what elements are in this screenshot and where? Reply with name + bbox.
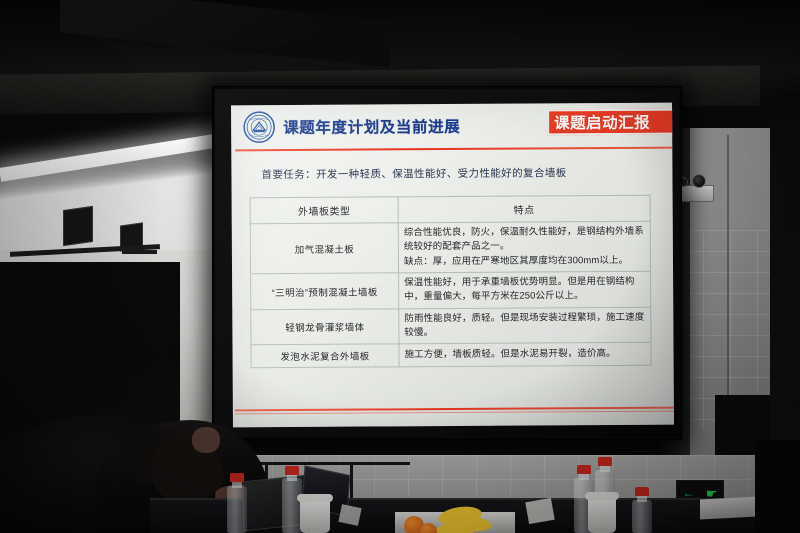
paper-sheet [338, 504, 361, 526]
paper-sheet [525, 498, 554, 524]
feature-line: 保温性能好，用于承重墙板优势明显。但是用在钢结构中，重量偏大，每平方米在250公… [404, 275, 645, 304]
water-bottle [632, 500, 652, 533]
orange [420, 523, 437, 533]
cell-panel-type: 加气混凝土板 [250, 223, 398, 274]
ceiling-beam [60, 0, 390, 67]
table-row: 发泡水泥复合外墙板 施工方便，墙板质轻。但是水泥易开裂，造价高。 [251, 343, 651, 368]
water-bottle [282, 478, 302, 533]
cell-panel-type: 轻钢龙骨灌浆墙体 [251, 309, 399, 345]
cell-panel-type: 发泡水泥复合外墙板 [251, 344, 399, 368]
cup-lid [585, 492, 619, 500]
cell-panel-features: 综合性能优良，防火，保温耐久性能好，是钢结构外墙系统较好的配套产品之一。 缺点：… [398, 221, 650, 273]
header-divider [235, 147, 674, 152]
bottle-cap [230, 473, 244, 482]
bottle-neck [637, 495, 647, 502]
university-emblem-icon [243, 111, 275, 143]
slide-title: 课题年度计划及当前进展 [283, 115, 460, 138]
bottle-neck [287, 474, 297, 481]
wall-trim-bar [122, 250, 157, 254]
slide-header: 课题年度计划及当前进展 课题启动汇报 [231, 103, 672, 148]
column-header-features: 特点 [398, 195, 650, 223]
conference-room-photo: 课题年度计划及当前进展 课题启动汇报 首要任务：开发一种轻质、保温性能好、受力性… [0, 0, 800, 533]
cup-lid [297, 494, 333, 502]
bottle-cap [598, 457, 612, 466]
bottle-cap [285, 466, 299, 475]
status-badge: 课题启动汇报 [547, 109, 674, 136]
foreground-dark-corner [755, 440, 800, 533]
table-row: “三明治”预制混凝土墙板 保温性能好，用于承重墙板优势明显。但是用在钢结构中，重… [251, 272, 651, 310]
wall-panel-comparison-table: 外墙板类型 特点 加气混凝土板 综合性能优良，防火，保温耐久性能好，是钢结构外墙… [250, 195, 652, 369]
table-row: 轻钢龙骨灌浆墙体 防雨性能良好，质轻。但是现场安装过程繁琐，施工速度较慢。 [251, 307, 651, 345]
table-row: 加气混凝土板 综合性能优良，防火，保温耐久性能好，是钢结构外墙系统较好的配套产品… [250, 221, 650, 274]
cup [300, 500, 330, 533]
cup [588, 498, 616, 533]
person-hand [192, 427, 220, 453]
bottle-cap [577, 465, 591, 474]
cell-panel-features: 防雨性能良好，质轻。但是现场安装过程繁琐，施工速度较慢。 [399, 307, 651, 344]
column-header-type: 外墙板类型 [250, 197, 398, 224]
cell-panel-features: 保温性能好，用于承重墙板优势明显。但是用在钢结构中，重量偏大，每平方米在250公… [399, 272, 651, 309]
cell-panel-type: “三明治”预制混凝土墙板 [251, 273, 399, 309]
bottle-cap [635, 487, 649, 496]
slide-subtitle: 首要任务：开发一种轻质、保温性能好、受力性能好的复合墙板 [261, 165, 566, 182]
bottle-neck [232, 481, 242, 488]
bottle-neck [579, 473, 589, 480]
ceiling [0, 0, 800, 100]
feature-line: 综合性能优良，防火，保温耐久性能好，是钢结构外墙系统较好的配套产品之一。 [404, 225, 645, 254]
railing-post [350, 462, 353, 502]
cell-panel-features: 施工方便，墙板质轻。但是水泥易开裂，造价高。 [399, 343, 651, 368]
water-bottle [227, 486, 247, 533]
security-camera-icon [692, 174, 706, 188]
presentation-slide: 课题年度计划及当前进展 课题启动汇报 首要任务：开发一种轻质、保温性能好、受力性… [231, 103, 674, 428]
wall-vent [63, 206, 93, 246]
feature-line: 缺点：厚，应用在严寒地区其厚度均在300mm以上。 [404, 253, 645, 268]
bottle-neck [600, 465, 610, 472]
feature-line: 施工方便，墙板质轻。但是水泥易开裂，造价高。 [405, 347, 646, 362]
feature-line: 防雨性能良好，质轻。但是现场安装过程繁琐，施工速度较慢。 [404, 311, 645, 340]
status-badge-label: 课题启动汇报 [554, 111, 650, 134]
table-header-row: 外墙板类型 特点 [250, 195, 650, 223]
far-right-shadow [770, 120, 800, 480]
footer-divider-secondary [235, 411, 674, 415]
